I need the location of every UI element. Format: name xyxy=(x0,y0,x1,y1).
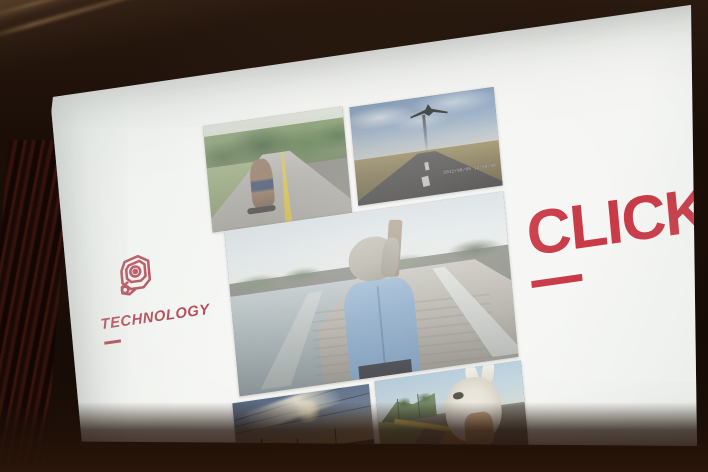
click-headline: CLICK! xyxy=(524,178,708,265)
floor-shadow xyxy=(0,402,708,472)
photo-jet-over-road: 2012/08/09 12:59:48 xyxy=(349,87,502,206)
click-headline-block: CLICK! xyxy=(524,178,708,288)
projected-slide-photograph: TECHNOLOGY CLICK! xyxy=(0,0,708,472)
click-rule xyxy=(531,274,582,288)
photo-skateboarder xyxy=(203,106,352,232)
ceiling-slab xyxy=(0,0,242,31)
technology-rule xyxy=(104,339,121,344)
camera-technology-icon xyxy=(108,249,159,303)
